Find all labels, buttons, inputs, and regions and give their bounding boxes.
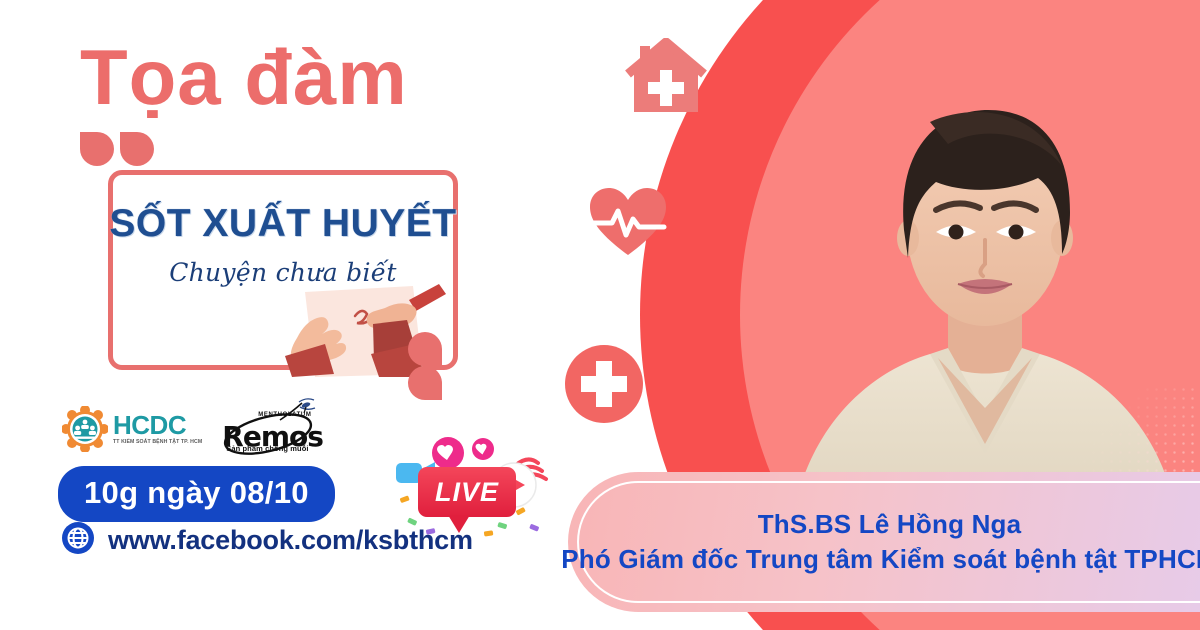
hospital-house-icon xyxy=(622,38,710,123)
speaker-role: Phó Giám đốc Trung tâm Kiểm soát bệnh tậ… xyxy=(561,544,1200,575)
quote-close-icon xyxy=(408,332,458,400)
medical-cross-circle-icon xyxy=(565,345,643,428)
hcdc-emblem-icon xyxy=(62,406,108,452)
event-poster: Tọa đàm SỐT XUẤT HUYẾT Chuyện chưa biết xyxy=(0,0,1200,630)
globe-icon xyxy=(62,522,94,559)
hcdc-logo: HCDC TT KIỂM SOÁT BỆNH TẬT TP. HCM xyxy=(62,406,202,452)
live-speech-bubble: LIVE xyxy=(418,467,516,517)
quote-open-icon xyxy=(80,132,160,166)
disease-title: SỐT XUẤT HUYẾT xyxy=(108,202,458,246)
remos-logo-subtitle: Sản phẩm chống muỗi xyxy=(226,444,308,453)
heart-pulse-icon xyxy=(588,185,668,264)
schedule-badge: 10g ngày 08/10 xyxy=(58,466,335,522)
speaker-name-banner: ThS.BS Lê Hồng Nga Phó Giám đốc Trung tâ… xyxy=(568,472,1200,612)
page-title: Tọa đàm xyxy=(80,38,408,116)
remos-logo: MENTHOLATUM Remos Sản phẩm chống muỗi xyxy=(220,398,320,460)
remos-logo-top-label: MENTHOLATUM xyxy=(258,412,311,418)
quote-card: SỐT XUẤT HUYẾT Chuyện chưa biết xyxy=(108,170,458,370)
speaker-banner-inner: ThS.BS Lê Hồng Nga Phó Giám đốc Trung tâ… xyxy=(577,481,1200,603)
hcdc-logo-subtitle: TT KIỂM SOÁT BỆNH TẬT TP. HCM xyxy=(113,440,202,445)
hcdc-logo-name: HCDC xyxy=(113,412,202,438)
live-label: LIVE xyxy=(435,477,499,508)
live-badge: LIVE xyxy=(390,435,555,540)
partner-logos: HCDC TT KIỂM SOÁT BỆNH TẬT TP. HCM MENTH… xyxy=(62,398,320,460)
speaker-name: ThS.BS Lê Hồng Nga xyxy=(758,509,1022,540)
